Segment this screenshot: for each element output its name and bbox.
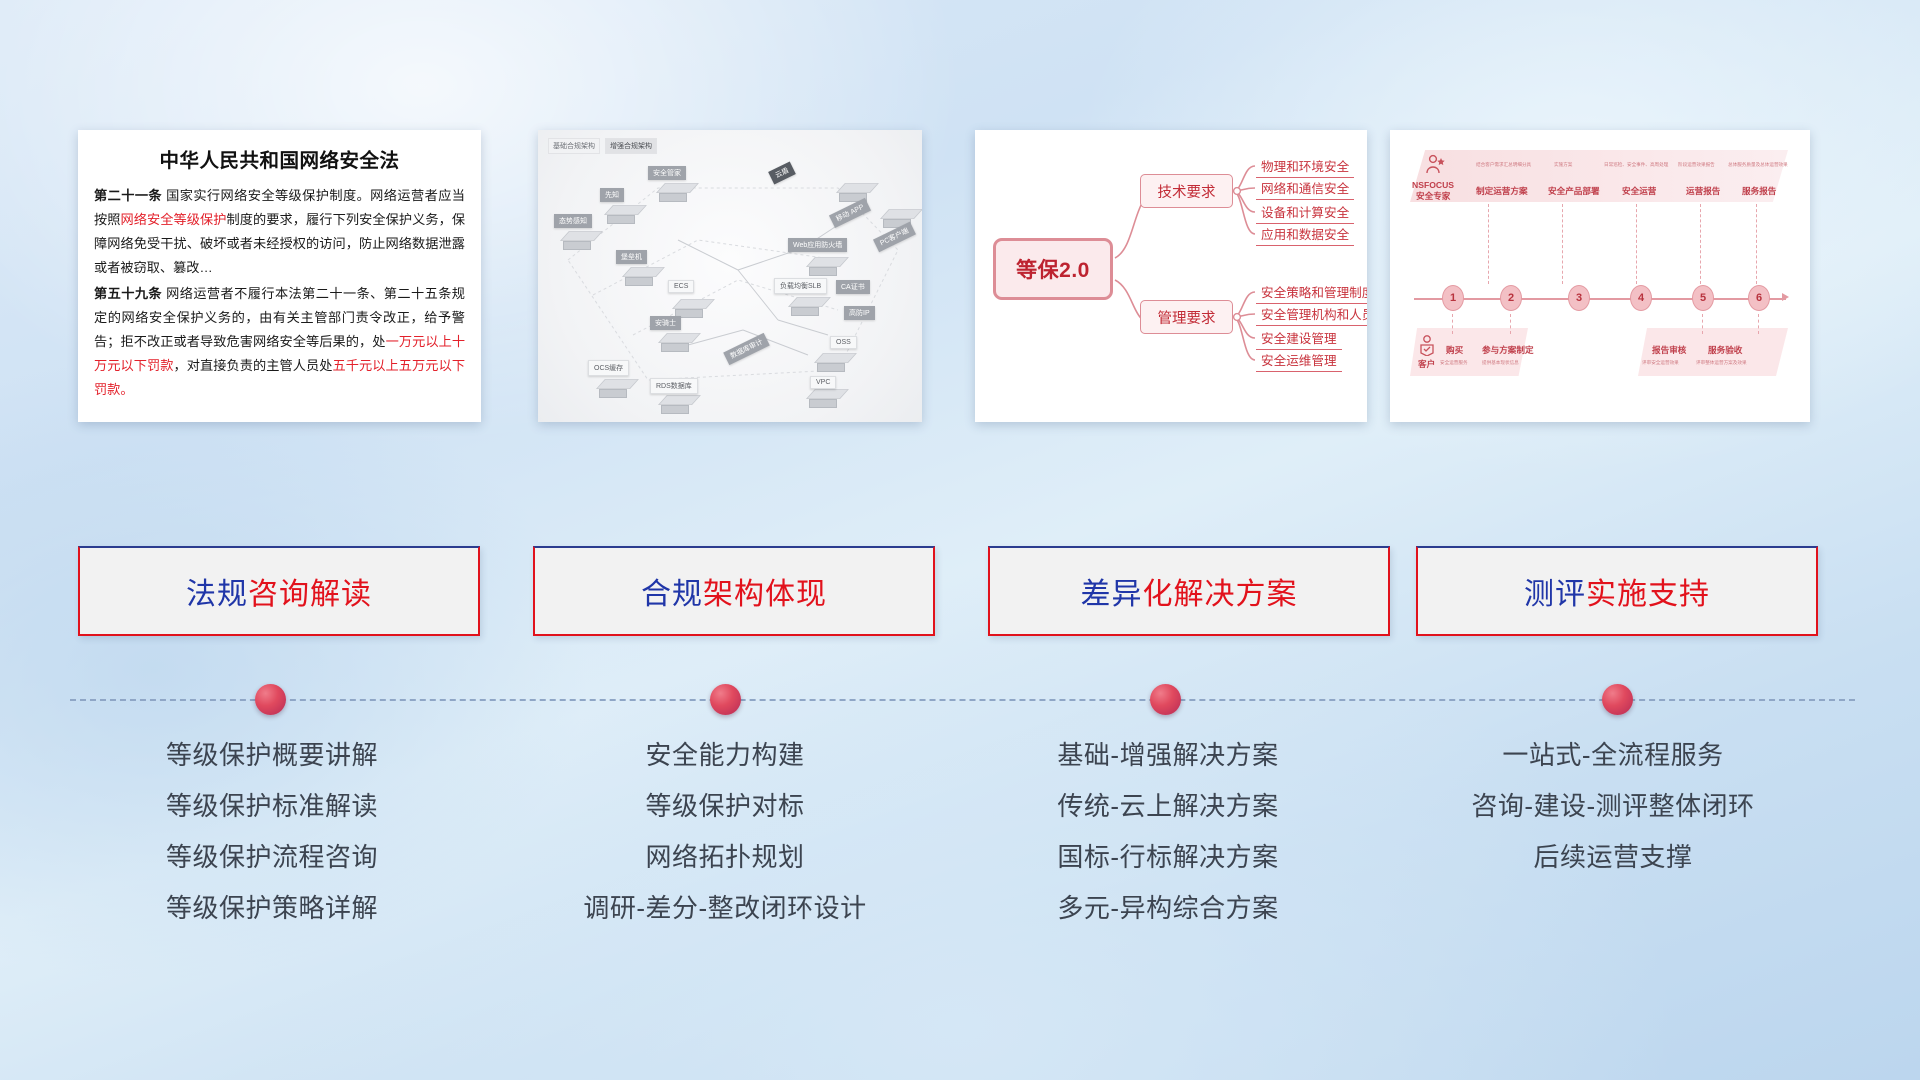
- top-step-3-sub: 日常巡检、安全事件、高周处理: [1604, 162, 1668, 168]
- list-item: 后续运营支撑: [1393, 844, 1833, 870]
- mindmap-branch-technical: 技术要求: [1140, 174, 1233, 208]
- arch-label-anti-ddos: 高防IP: [844, 306, 875, 320]
- arch-label-vpc: VPC: [810, 376, 836, 389]
- list-item: 网络拓扑规划: [505, 844, 945, 870]
- arch-label-ca-cert: CA证书: [836, 280, 870, 294]
- arch-label-bastion: 堡垒机: [616, 250, 647, 264]
- banner-3-prefix: 差异: [1081, 578, 1143, 611]
- card-cybersecurity-law[interactable]: 中华人民共和国网络安全法 第二十一条 国家实行网络安全等级保护制度。网络运营者应…: [78, 130, 481, 422]
- timeline-dashed-axis: [70, 699, 1855, 701]
- banner-1-suffix: 咨询解读: [248, 578, 372, 611]
- top-step-2-title: 安全产品部署: [1548, 185, 1600, 197]
- arch-node-icon-waf: [806, 250, 840, 276]
- timeline-dash-b3: [1702, 314, 1703, 334]
- bottom-step-4-sub: 评审整体运营方案及效果: [1696, 360, 1747, 366]
- timeline-node-3: 3: [1568, 285, 1590, 311]
- arch-node-icon-oss: [814, 346, 848, 372]
- banner-4-suffix: 实施支持: [1586, 578, 1710, 611]
- article-59-text-b: ，对直接负责的主管人员处: [174, 358, 333, 373]
- pillar-banner-assessment[interactable]: 测评实施支持: [1416, 546, 1818, 636]
- top-step-2-sub: 实施方案: [1554, 162, 1572, 168]
- pillar-banner-regulation[interactable]: 法规咨询解读: [78, 546, 480, 636]
- timeline-dash-1: [1488, 204, 1489, 284]
- card-mindmap-dengbao[interactable]: 等保2.0 技术要求 管理要求 物理和环境安全 网络和通信安全 设备和计算安全 …: [975, 130, 1367, 422]
- customer-label: 客户: [1418, 358, 1435, 370]
- expert-person-icon: [1424, 154, 1446, 178]
- bottom-step-3-title: 报告审核: [1652, 344, 1686, 356]
- timeline-marker-4: [1602, 684, 1633, 715]
- timeline-dash-b1: [1452, 314, 1453, 334]
- arch-label-agent: 安骑士: [650, 316, 681, 330]
- mindmap-leaf-mgmt-4: 安全运维管理: [1256, 350, 1342, 372]
- bottom-step-3-sub: 评审安全运营效果: [1642, 360, 1679, 366]
- detail-list-solution: 基础-增强解决方案 传统-云上解决方案 国标-行标解决方案 多元-异构综合方案: [948, 742, 1388, 946]
- article-21-label: 第二十一条: [94, 188, 162, 203]
- list-item: 调研-差分-整改闭环设计: [505, 895, 945, 921]
- pillar-banner-architecture-label: 合规架构体现: [641, 569, 827, 613]
- mindmap-leaf-mgmt-1: 安全策略和管理制度: [1256, 282, 1367, 304]
- mindmap-leaf-tech-4: 应用和数据安全: [1256, 224, 1354, 246]
- bottom-step-4-title: 服务验收: [1708, 344, 1742, 356]
- top-step-4-title: 运营报告: [1686, 185, 1720, 197]
- mindmap-leaf-mgmt-3: 安全建设管理: [1256, 328, 1342, 350]
- expert-label-line1: NSFOCUS: [1412, 180, 1454, 190]
- list-item: 国标-行标解决方案: [948, 844, 1388, 870]
- arch-label-rds: RDS数据库: [650, 378, 698, 394]
- arch-label-ocs: OCS缓存: [588, 360, 629, 376]
- mindmap-leaf-tech-2: 网络和通信安全: [1256, 178, 1354, 200]
- list-item: 等级保护对标: [505, 793, 945, 819]
- timeline-axis: [1414, 298, 1786, 300]
- timeline-dash-3: [1636, 204, 1637, 284]
- architecture-diagram: 基础合规架构 增强合规架构: [538, 130, 922, 422]
- banner-2-suffix: 架构体现: [703, 578, 827, 611]
- pillar-banner-architecture[interactable]: 合规架构体现: [533, 546, 935, 636]
- arch-label-ecs: ECS: [668, 280, 694, 293]
- customer-person-icon: [1418, 334, 1436, 356]
- mindmap-leaf-tech-1: 物理和环境安全: [1256, 156, 1354, 178]
- banner-1-prefix: 法规: [186, 578, 248, 611]
- banner-3-suffix: 化解决方案: [1143, 578, 1298, 611]
- arch-label-guard: 安全管家: [648, 166, 686, 180]
- article-21-highlight: 网络安全等级保护: [121, 212, 227, 227]
- law-article-21: 第二十一条 国家实行网络安全等级保护制度。网络运营者应当按照网络安全等级保护制度…: [94, 184, 465, 280]
- pillar-banner-solution-label: 差异化解决方案: [1081, 569, 1298, 613]
- mindmap-leaf-tech-3: 设备和计算安全: [1256, 202, 1354, 224]
- mindmap-branch-management: 管理要求: [1140, 300, 1233, 334]
- list-item: 基础-增强解决方案: [948, 742, 1388, 768]
- bottom-step-1-title: 购买: [1446, 344, 1463, 356]
- timeline-marker-2: [710, 684, 741, 715]
- list-item: 咨询-建设-测评整体闭环: [1393, 793, 1833, 819]
- detail-list-architecture: 安全能力构建 等级保护对标 网络拓扑规划 调研-差分-整改闭环设计: [505, 742, 945, 946]
- arch-label-waf: Web应用防火墙: [788, 238, 847, 252]
- timeline-dash-b4: [1758, 314, 1759, 334]
- timeline-arrow-icon: [1782, 293, 1789, 301]
- pillar-banner-assessment-label: 测评实施支持: [1524, 569, 1710, 613]
- top-step-1-sub: 结合客户需求汇总明细分具: [1476, 162, 1531, 168]
- timeline-dash-5: [1756, 204, 1757, 284]
- timeline-node-6: 6: [1748, 285, 1770, 311]
- timeline-marker-3: [1150, 684, 1181, 715]
- arch-label-oss: OSS: [830, 336, 857, 349]
- top-step-5-title: 服务报告: [1742, 185, 1776, 197]
- timeline-dash-b2: [1510, 314, 1511, 334]
- arch-label-situation: 态势感知: [554, 214, 592, 228]
- list-item: 一站式-全流程服务: [1393, 742, 1833, 768]
- law-body: 中华人民共和国网络安全法 第二十一条 国家实行网络安全等级保护制度。网络运营者应…: [78, 130, 481, 414]
- article-59-label: 第五十九条: [94, 286, 162, 301]
- nsfocus-timeline: NSFOCUS 安全专家 制定运营方案 结合客户需求汇总明细分具 安全产品部署 …: [1390, 130, 1810, 422]
- top-step-3-title: 安全运营: [1622, 185, 1656, 197]
- timeline-node-1: 1: [1442, 285, 1464, 311]
- list-item: 传统-云上解决方案: [948, 793, 1388, 819]
- pillar-banner-regulation-label: 法规咨询解读: [186, 569, 372, 613]
- timeline-dash-2: [1562, 204, 1563, 284]
- detail-list-regulation: 等级保护概要讲解 等级保护标准解读 等级保护流程咨询 等级保护策略详解: [52, 742, 492, 946]
- top-step-5-sub: 总体服务质量及总体运营效果: [1728, 162, 1788, 168]
- mindmap: 等保2.0 技术要求 管理要求 物理和环境安全 网络和通信安全 设备和计算安全 …: [975, 130, 1367, 422]
- timeline-node-4: 4: [1630, 285, 1652, 311]
- pillar-banner-solution[interactable]: 差异化解决方案: [988, 546, 1390, 636]
- top-step-1-title: 制定运营方案: [1476, 185, 1528, 197]
- law-article-59: 第五十九条 网络运营者不履行本法第二十一条、第二十五条规定的网络安全保护义务的，…: [94, 282, 465, 402]
- law-title: 中华人民共和国网络安全法: [94, 144, 465, 173]
- detail-lists-row: 等级保护概要讲解 等级保护标准解读 等级保护流程咨询 等级保护策略详解 安全能力…: [0, 742, 1920, 982]
- list-item: 等级保护概要讲解: [52, 742, 492, 768]
- list-item: 等级保护策略详解: [52, 895, 492, 921]
- timeline-node-5: 5: [1692, 285, 1714, 311]
- top-step-4-sub: 阶段运营效果报告: [1678, 162, 1715, 168]
- mindmap-leaf-mgmt-2: 安全管理机构和人员: [1256, 304, 1367, 326]
- bottom-step-1-sub: 安全运营服务: [1440, 360, 1468, 366]
- banner-4-prefix: 测评: [1524, 578, 1586, 611]
- mindmap-root: 等保2.0: [993, 238, 1113, 300]
- bottom-step-2-title: 参与方案制定: [1482, 344, 1534, 356]
- timeline-marker-1: [255, 684, 286, 715]
- timeline-dash-4: [1700, 204, 1701, 284]
- arch-label-slb: 负载均衡SLB: [774, 278, 827, 294]
- list-item: 等级保护流程咨询: [52, 844, 492, 870]
- card-nsfocus-timeline[interactable]: NSFOCUS 安全专家 制定运营方案 结合客户需求汇总明细分具 安全产品部署 …: [1390, 130, 1810, 422]
- timeline-node-2: 2: [1500, 285, 1522, 311]
- list-item: 多元-异构综合方案: [948, 895, 1388, 921]
- reference-cards-row: 中华人民共和国网络安全法 第二十一条 国家实行网络安全等级保护制度。网络运营者应…: [0, 130, 1920, 430]
- detail-list-assessment: 一站式-全流程服务 咨询-建设-测评整体闭环 后续运营支撑: [1393, 742, 1833, 895]
- banner-2-prefix: 合规: [641, 578, 703, 611]
- bottom-step-2-sub: 提供基本现状信息: [1482, 360, 1519, 366]
- pillar-banners-row: 法规咨询解读 合规架构体现 差异化解决方案 测评实施支持: [0, 546, 1920, 638]
- arch-label-foresight: 先知: [600, 188, 624, 202]
- arch-node-icon-ecs: [672, 292, 706, 318]
- list-item: 等级保护标准解读: [52, 793, 492, 819]
- card-compliance-architecture[interactable]: 基础合规架构 增强合规架构: [538, 130, 922, 422]
- list-item: 安全能力构建: [505, 742, 945, 768]
- expert-label-line2: 安全专家: [1416, 190, 1450, 202]
